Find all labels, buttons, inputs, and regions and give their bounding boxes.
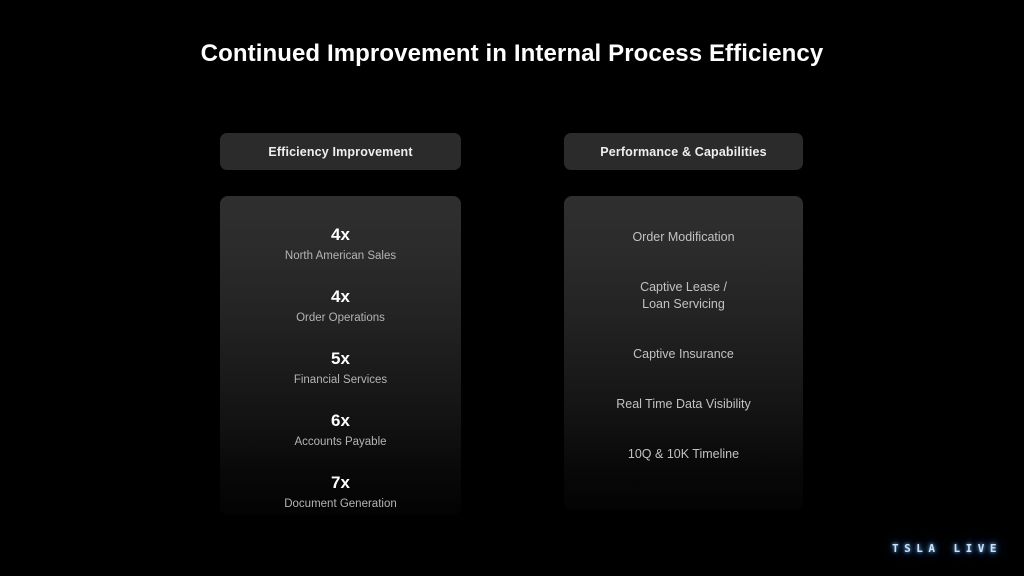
capability-row: Order Modification bbox=[564, 229, 803, 246]
watermark-word-tsla: TSLA bbox=[892, 542, 941, 555]
header-pill-performance-capabilities: Performance & Capabilities bbox=[564, 133, 803, 170]
metric-value: 4x bbox=[220, 225, 461, 245]
metric-value: 7x bbox=[220, 473, 461, 493]
metric-row: 4x Order Operations bbox=[220, 287, 461, 327]
capability-row: Captive Insurance bbox=[564, 346, 803, 363]
panel-efficiency-improvement: 4x North American Sales 4x Order Operati… bbox=[220, 196, 461, 515]
capability-label: 10Q & 10K Timeline bbox=[564, 446, 803, 463]
column-efficiency-improvement: Efficiency Improvement 4x North American… bbox=[220, 133, 461, 515]
metric-label: Financial Services bbox=[220, 371, 461, 389]
column-performance-capabilities: Performance & Capabilities Order Modific… bbox=[564, 133, 803, 511]
capability-row: Captive Lease / Loan Servicing bbox=[564, 279, 803, 313]
metric-row: 4x North American Sales bbox=[220, 225, 461, 265]
header-pill-label: Performance & Capabilities bbox=[600, 145, 766, 159]
capability-label: Order Modification bbox=[564, 229, 803, 246]
capability-label: Captive Insurance bbox=[564, 346, 803, 363]
metric-value: 5x bbox=[220, 349, 461, 369]
metric-row: 6x Accounts Payable bbox=[220, 411, 461, 451]
tsla-live-watermark: TSLA LIVE bbox=[892, 542, 1002, 555]
watermark-word-live: LIVE bbox=[954, 542, 1003, 555]
metric-label: Accounts Payable bbox=[220, 433, 461, 451]
capability-row: 10Q & 10K Timeline bbox=[564, 446, 803, 463]
page-title: Continued Improvement in Internal Proces… bbox=[0, 40, 1024, 68]
header-pill-label: Efficiency Improvement bbox=[268, 145, 412, 159]
panel-performance-capabilities: Order Modification Captive Lease / Loan … bbox=[564, 196, 803, 511]
metric-row: 7x Document Generation bbox=[220, 473, 461, 513]
metric-label: Order Operations bbox=[220, 309, 461, 327]
metric-row: 5x Financial Services bbox=[220, 349, 461, 389]
capability-label: Real Time Data Visibility bbox=[564, 396, 803, 413]
capability-row: Real Time Data Visibility bbox=[564, 396, 803, 413]
capability-label: Captive Lease / Loan Servicing bbox=[564, 279, 803, 313]
header-pill-efficiency-improvement: Efficiency Improvement bbox=[220, 133, 461, 170]
metric-value: 4x bbox=[220, 287, 461, 307]
metric-value: 6x bbox=[220, 411, 461, 431]
metric-label: Document Generation bbox=[220, 495, 461, 513]
metric-label: North American Sales bbox=[220, 247, 461, 265]
